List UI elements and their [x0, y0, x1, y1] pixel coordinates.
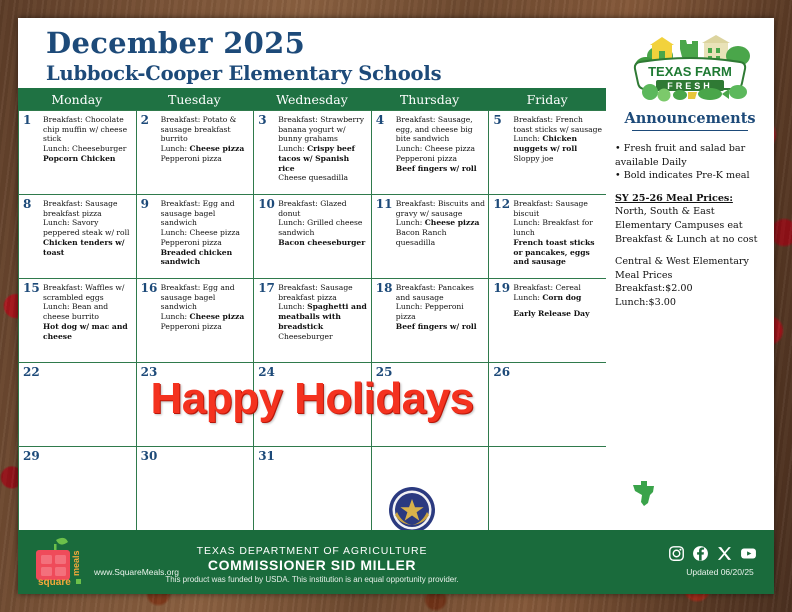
day-number: 26	[493, 365, 510, 379]
menu-text: Breakfast: Pancakes and sausageLunch: Pe…	[396, 283, 486, 332]
menu-line: Breakfast: Egg and sausage bagel sandwic…	[161, 283, 251, 312]
day-number: 19	[493, 281, 510, 295]
menu-line: Lunch: Cheeseburger	[43, 144, 133, 154]
agency-name: TEXAS DEPARTMENT OF AGRICULTURE	[18, 545, 606, 557]
day-number: 29	[23, 449, 40, 463]
youtube-icon[interactable]	[740, 545, 757, 562]
calendar-day-cell: 9Breakfast: Egg and sausage bagel sandwi…	[137, 195, 255, 279]
menu-text: Breakfast: Sausage breakfast pizzaLunch:…	[278, 283, 368, 341]
calendar-sheet: December 2025 Lubbock-Cooper Elementary …	[18, 18, 774, 594]
menu-line: Early Release Day	[513, 309, 603, 319]
menu-line: Breakfast: Sausage breakfast pizza	[278, 283, 368, 302]
central-west-heading: Central & West Elementary Meal Prices	[615, 255, 770, 282]
menu-text: Breakfast: Egg and sausage bagel sandwic…	[161, 283, 251, 332]
day-number: 4	[376, 113, 384, 127]
menu-line: Beef fingers w/ roll	[396, 164, 486, 174]
calendar-day-cell: 29	[19, 447, 137, 531]
calendar-day-cell: 22	[19, 363, 137, 447]
menu-text: Breakfast: CerealLunch: Corn dogEarly Re…	[513, 283, 603, 319]
menu-line: Lunch: Pepperoni pizza	[396, 302, 486, 321]
day-number: 10	[258, 197, 275, 211]
menu-line: French toast sticks or pancakes, eggs an…	[513, 238, 603, 267]
announcements-column: TEXAS FARM FRESH Announcements • Fresh f…	[606, 18, 774, 594]
day-number: 15	[23, 281, 40, 295]
title-block: December 2025 Lubbock-Cooper Elementary …	[18, 18, 606, 88]
x-twitter-icon[interactable]	[716, 545, 733, 562]
announcement-bullet-1: • Bold indicates Pre-K meal	[615, 169, 770, 183]
menu-line: Lunch: Chicken nuggets w/ roll	[513, 134, 603, 153]
announcements-title: Announcements	[606, 110, 774, 127]
calendar-day-cell: 24	[254, 363, 372, 447]
menu-line: Breakfast: Glazed donut	[278, 199, 368, 218]
day-number: 23	[141, 365, 158, 379]
page-subtitle: Lubbock-Cooper Elementary Schools	[46, 62, 441, 85]
calendar-day-cell: 3Breakfast: Strawberry banana yogurt w/ …	[254, 111, 372, 195]
menu-line: Breakfast: French toast sticks w/ sausag…	[513, 115, 603, 134]
menu-line: Breakfast: Biscuits and gravy w/ sausage	[396, 199, 486, 218]
day-number: 9	[141, 197, 149, 211]
calendar-empty-cell	[489, 447, 607, 531]
logo-text-top: TEXAS FARM	[648, 64, 732, 79]
calendar-day-cell: 23	[137, 363, 255, 447]
day-number: 5	[493, 113, 501, 127]
day-number: 18	[376, 281, 393, 295]
calendar-day-cell: 16Breakfast: Egg and sausage bagel sandw…	[137, 279, 255, 363]
menu-text: Breakfast: Glazed donutLunch: Grilled ch…	[278, 199, 368, 248]
menu-line: Lunch: Breakfast for lunch	[513, 218, 603, 237]
menu-line: Breakfast: Chocolate chip muffin w/ chee…	[43, 115, 133, 144]
announcement-bullet-0: • Fresh fruit and salad bar available Da…	[615, 142, 770, 169]
menu-line: Cheese quesadilla	[278, 173, 368, 183]
commissioner-name: COMMISSIONER SID MILLER	[18, 557, 606, 573]
menu-line: Breaded chicken sandwich	[161, 248, 251, 267]
menu-text: Breakfast: Sausage biscuitLunch: Breakfa…	[513, 199, 603, 267]
weekday-header-row: MondayTuesdayWednesdayThursdayFriday	[18, 88, 606, 110]
calendar-day-cell: 12Breakfast: Sausage biscuitLunch: Break…	[489, 195, 607, 279]
menu-line: Hot dog w/ mac and cheese	[43, 322, 133, 341]
day-number: 8	[23, 197, 31, 211]
facebook-icon[interactable]	[692, 545, 709, 562]
menu-line: Breakfast: Sausage biscuit	[513, 199, 603, 218]
menu-line: Lunch: Corn dog	[513, 293, 603, 303]
menu-text: Breakfast: French toast sticks w/ sausag…	[513, 115, 603, 164]
menu-line: Lunch: Spaghetti and meatballs with brea…	[278, 302, 368, 331]
page-title: December 2025	[46, 26, 305, 60]
day-number: 22	[23, 365, 40, 379]
day-number: 30	[141, 449, 158, 463]
menu-line: Pepperoni pizza	[396, 154, 486, 164]
menu-line: Pepperoni pizza	[161, 322, 251, 332]
menu-line: Lunch: Cheese pizza	[161, 144, 251, 154]
texas-farm-fresh-logo: TEXAS FARM FRESH	[626, 32, 754, 106]
menu-text: Breakfast: Chocolate chip muffin w/ chee…	[43, 115, 133, 164]
menu-text: Breakfast: Sausage breakfast pizzaLunch:…	[43, 199, 133, 257]
tda-seal-icon	[388, 486, 436, 534]
weekday-header-friday: Friday	[488, 88, 606, 110]
day-number: 12	[493, 197, 510, 211]
menu-line: Breakfast: Strawberry banana yogurt w/ b…	[278, 115, 368, 144]
calendar-day-cell: 19Breakfast: CerealLunch: Corn dogEarly …	[489, 279, 607, 363]
day-number: 16	[141, 281, 158, 295]
calendar-day-cell: 1Breakfast: Chocolate chip muffin w/ che…	[19, 111, 137, 195]
menu-line: Lunch: Savory peppered steak w/ roll	[43, 218, 133, 237]
usda-funding-note: This product was funded by USDA. This in…	[18, 575, 606, 584]
menu-line: Breakfast: Sausage breakfast pizza	[43, 199, 133, 218]
day-number: 2	[141, 113, 149, 127]
announcements-title-underline	[632, 130, 748, 131]
menu-line: Lunch: Grilled cheese sandwich	[278, 218, 368, 237]
calendar-day-cell: 11Breakfast: Biscuits and gravy w/ sausa…	[372, 195, 490, 279]
menu-line: Lunch: Bean and cheese burrito	[43, 302, 133, 321]
menu-line: Bacon cheeseburger	[278, 238, 368, 248]
calendar-day-cell: 5Breakfast: French toast sticks w/ sausa…	[489, 111, 607, 195]
menu-line: Sloppy joe	[513, 154, 603, 164]
menu-line: Bacon Ranch quesadilla	[396, 228, 486, 247]
menu-text: Breakfast: Potato & sausage breakfast bu…	[161, 115, 251, 164]
meal-prices-heading: SY 25-26 Meal Prices:	[615, 192, 770, 206]
breakfast-price: Breakfast:$2.00	[615, 282, 770, 296]
calendar-day-cell: 17Breakfast: Sausage breakfast pizzaLunc…	[254, 279, 372, 363]
menu-line: Beef fingers w/ roll	[396, 322, 486, 332]
day-number: 11	[376, 197, 393, 211]
menu-line: Breakfast: Potato & sausage breakfast bu…	[161, 115, 251, 144]
calendar-day-cell: 10Breakfast: Glazed donutLunch: Grilled …	[254, 195, 372, 279]
menu-line: Cheeseburger	[278, 332, 368, 342]
day-number: 24	[258, 365, 275, 379]
calendar-grid: 1Breakfast: Chocolate chip muffin w/ che…	[18, 110, 607, 531]
page-footer: square meals www.SquareMeals.org TEXAS D…	[18, 530, 774, 594]
menu-line: Lunch: Cheese pizza	[396, 144, 486, 154]
lunch-price: Lunch:$3.00	[615, 296, 770, 310]
menu-text: Breakfast: Sausage, egg, and cheese big …	[396, 115, 486, 173]
day-number: 17	[258, 281, 275, 295]
weekday-header-wednesday: Wednesday	[253, 88, 371, 110]
menu-text: Breakfast: Strawberry banana yogurt w/ b…	[278, 115, 368, 183]
menu-text: Breakfast: Biscuits and gravy w/ sausage…	[396, 199, 486, 248]
day-number: 3	[258, 113, 266, 127]
menu-line: Breakfast: Pancakes and sausage	[396, 283, 486, 302]
calendar-day-cell: 18Breakfast: Pancakes and sausageLunch: …	[372, 279, 490, 363]
menu-line: Lunch: Cheese pizza	[396, 218, 486, 228]
menu-line: Breakfast: Cereal	[513, 283, 603, 293]
weekday-header-monday: Monday	[18, 88, 136, 110]
calendar-column: December 2025 Lubbock-Cooper Elementary …	[18, 18, 606, 594]
menu-line: Breakfast: Waffles w/ scrambled eggs	[43, 283, 133, 302]
menu-line: Popcorn Chicken	[43, 154, 133, 164]
menu-line: Breakfast: Sausage, egg, and cheese big …	[396, 115, 486, 144]
texas-state-icon	[630, 478, 656, 506]
menu-line: Pepperoni pizza	[161, 154, 251, 164]
menu-text: Breakfast: Egg and sausage bagel sandwic…	[161, 199, 251, 267]
updated-date: Updated 06/20/25	[668, 567, 772, 577]
weekday-header-tuesday: Tuesday	[136, 88, 254, 110]
day-number: 1	[23, 113, 31, 127]
menu-line: Lunch: Cheese pizza	[161, 228, 251, 238]
calendar-day-cell: 8Breakfast: Sausage breakfast pizzaLunch…	[19, 195, 137, 279]
instagram-icon[interactable]	[668, 545, 685, 562]
day-number: 25	[376, 365, 393, 379]
menu-line: Lunch: Cheese pizza	[161, 312, 251, 322]
menu-line: Chicken tenders w/ toast	[43, 238, 133, 257]
calendar-day-cell: 25	[372, 363, 490, 447]
menu-text: Breakfast: Waffles w/ scrambled eggsLunc…	[43, 283, 133, 341]
calendar-day-cell: 30	[137, 447, 255, 531]
calendar-day-cell: 4Breakfast: Sausage, egg, and cheese big…	[372, 111, 490, 195]
calendar-day-cell: 15Breakfast: Waffles w/ scrambled eggsLu…	[19, 279, 137, 363]
calendar-day-cell: 31	[254, 447, 372, 531]
day-number: 31	[258, 449, 275, 463]
menu-line: Breakfast: Egg and sausage bagel sandwic…	[161, 199, 251, 228]
social-links[interactable]	[668, 542, 766, 564]
weekday-header-thursday: Thursday	[371, 88, 489, 110]
menu-line: Pepperoni pizza	[161, 238, 251, 248]
menu-line: Lunch: Crispy beef tacos w/ Spanish rice	[278, 144, 368, 173]
calendar-day-cell: 26	[489, 363, 607, 447]
announcements-body: • Fresh fruit and salad bar available Da…	[615, 142, 770, 310]
calendar-day-cell: 2Breakfast: Potato & sausage breakfast b…	[137, 111, 255, 195]
meal-prices-note: North, South & East Elementary Campuses …	[615, 205, 770, 246]
